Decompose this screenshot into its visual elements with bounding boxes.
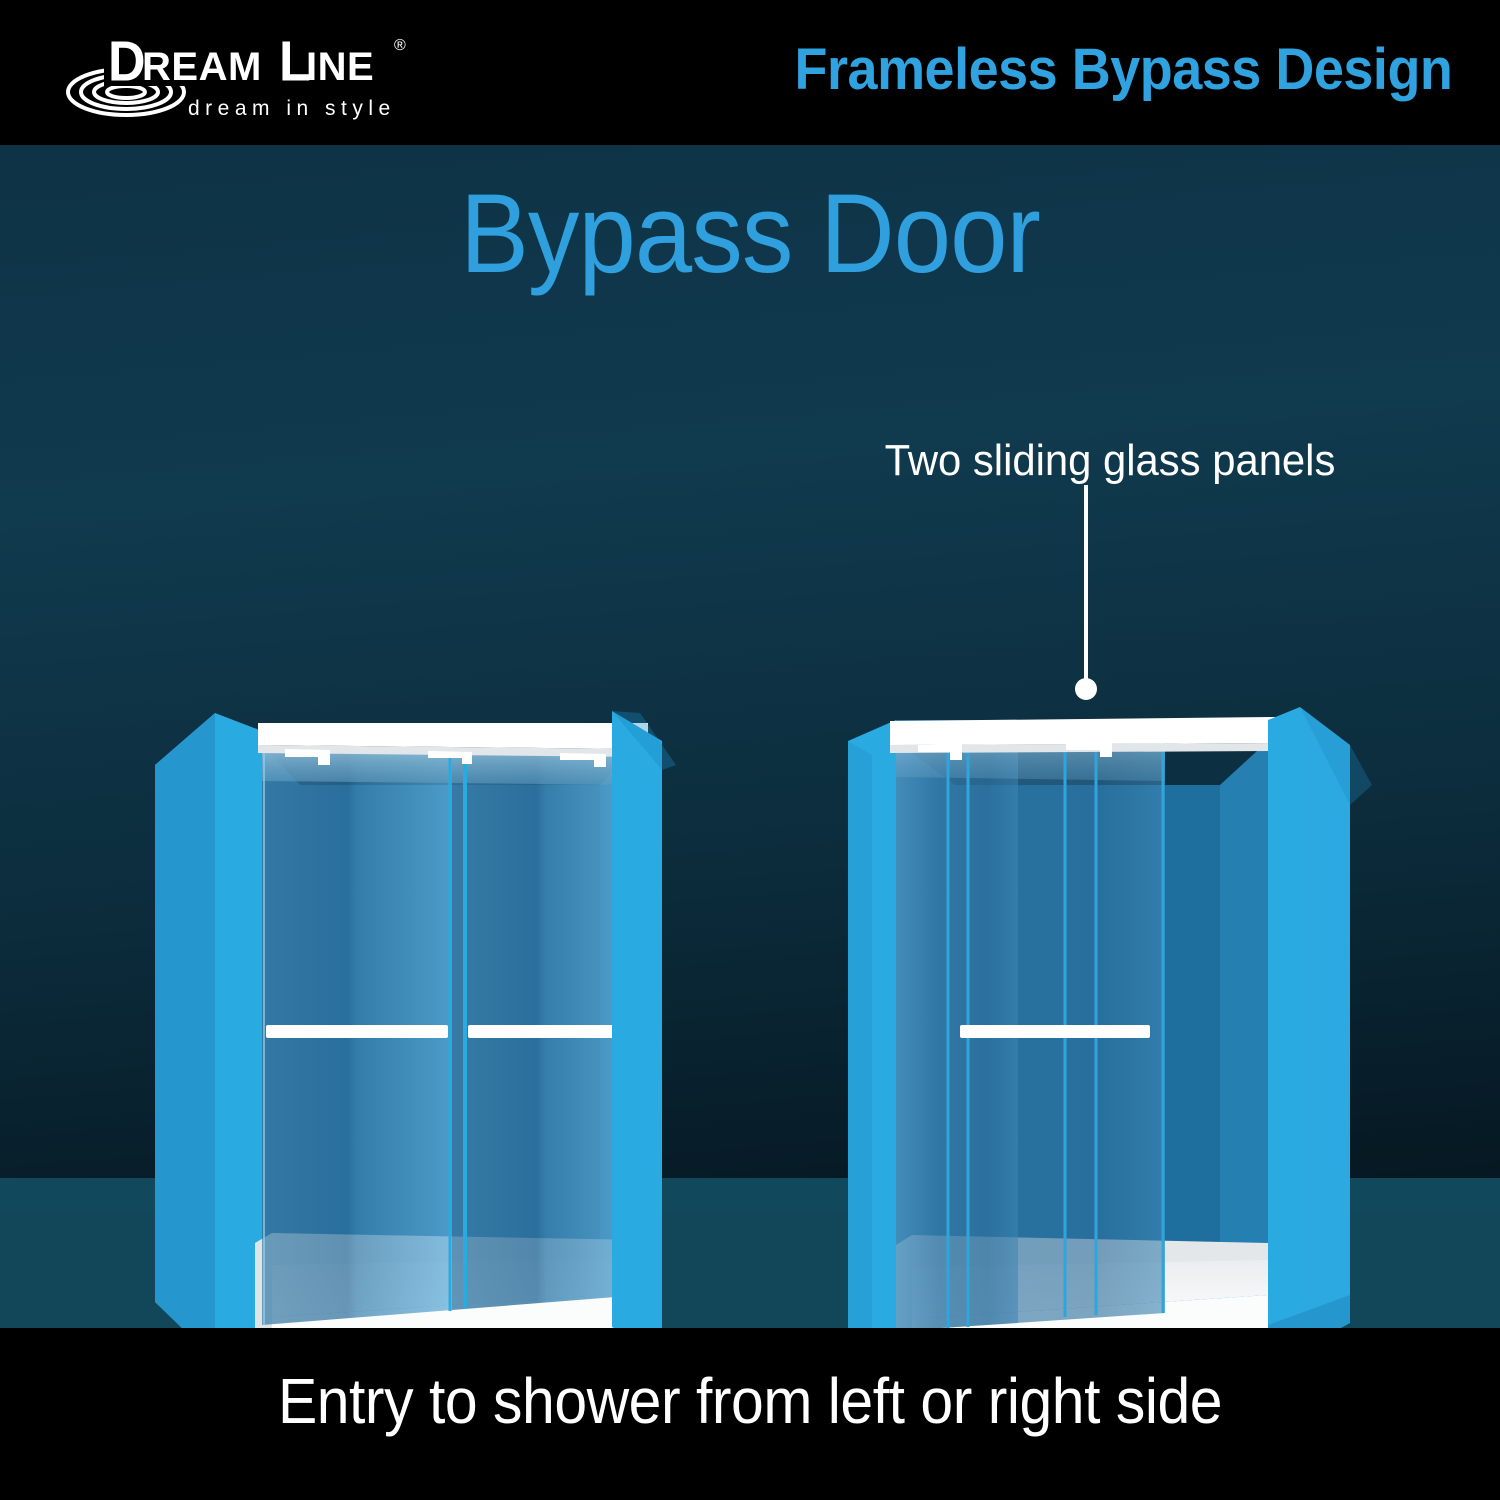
header-bar: D REAM L INE ® dream in style Frameless …: [0, 0, 1500, 145]
enclosure-left-closed: [155, 711, 676, 1328]
right-unit-handle: [960, 1025, 1150, 1038]
infographic-canvas: Bypass Door Two sliding glass panels D R…: [0, 0, 1500, 1500]
brand-tagline: dream in style: [188, 97, 396, 120]
right-unit-right-wall-block: [1268, 707, 1300, 1328]
footer-caption: Entry to shower from left or right side: [60, 1364, 1440, 1438]
callout-label: Two sliding glass panels: [825, 436, 1395, 486]
header-headline: Frameless Bypass Design: [794, 36, 1452, 103]
brand-wordmark-ine: INE: [306, 45, 374, 89]
dreamline-logo-svg: D REAM L INE ® dream in style: [60, 18, 480, 128]
left-unit-right-wall-block: [612, 711, 662, 1328]
right-unit-left-wall-side: [848, 741, 872, 1328]
right-unit-interior-right-wall: [1220, 741, 1268, 1328]
callout-leader-dot: [1075, 678, 1097, 700]
left-unit-handle-front-panel: [266, 1025, 448, 1038]
left-unit-top-rail: [258, 723, 648, 749]
footer-bar: Entry to shower from left or right side: [0, 1328, 1500, 1500]
right-unit-top-rail: [890, 717, 1276, 745]
brand-wordmark-big: D: [108, 31, 146, 93]
brand-logo[interactable]: D REAM L INE ® dream in style: [60, 18, 480, 128]
left-unit-left-wall-face: [215, 713, 262, 1328]
page-title: Bypass Door: [60, 178, 1440, 290]
brand-registered-mark: ®: [394, 37, 406, 54]
enclosure-right-open: [848, 707, 1372, 1328]
brand-wordmark-rest: REAM: [142, 45, 262, 89]
right-unit-right-wall-outer: [1300, 707, 1350, 1328]
callout-leader-group: [1075, 485, 1097, 700]
shower-enclosure-illustration: [0, 145, 1500, 1328]
left-unit-left-wall-inner: [155, 713, 215, 1328]
